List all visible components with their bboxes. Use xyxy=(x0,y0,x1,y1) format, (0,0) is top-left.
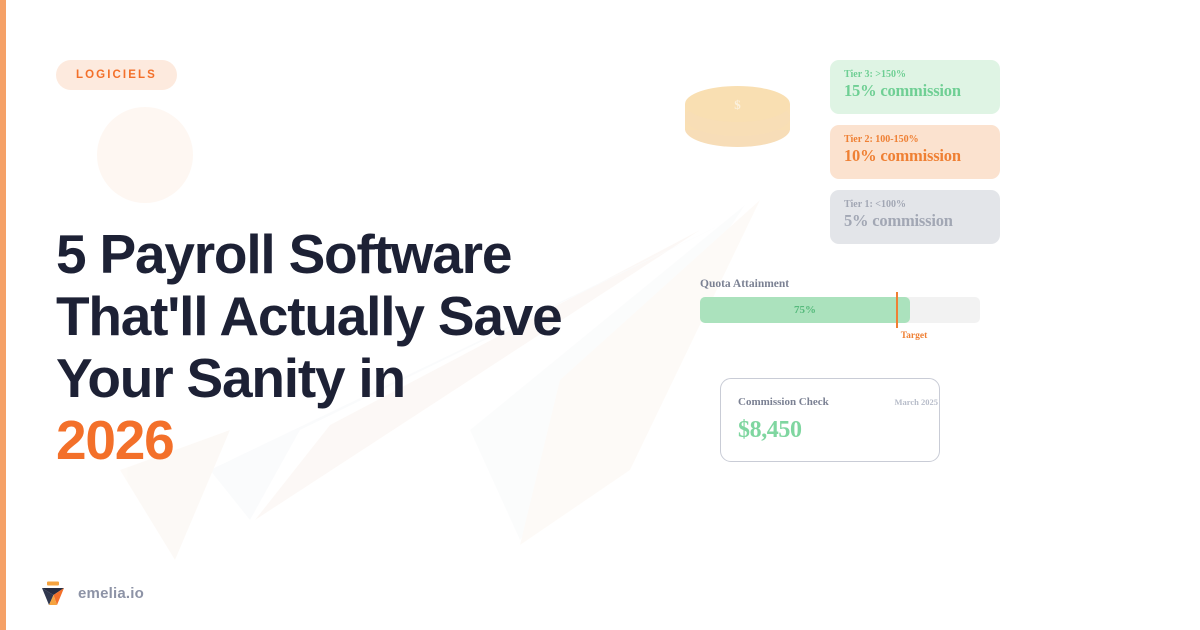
tier-3-rate: 15% commission xyxy=(844,81,986,101)
commission-check-header: Commission Check March 2025 xyxy=(738,396,922,408)
tier-1-rate: 5% commission xyxy=(844,211,986,231)
tier-card-2: Tier 2: 100-150% 10% commission xyxy=(830,125,1000,179)
commission-check-title: Commission Check xyxy=(738,396,829,408)
quota-target-label: Target xyxy=(901,331,928,341)
hero-right-visual: $ Tier 3: >150% 15% commission Tier 2: 1… xyxy=(676,0,1016,630)
quota-attainment-label: Quota Attainment xyxy=(700,278,1004,290)
commission-check-card: Commission Check March 2025 $8,450 xyxy=(720,378,940,462)
tier-2-range: Tier 2: 100-150% xyxy=(844,134,986,145)
quota-progress-value: 75% xyxy=(794,304,816,316)
page-title: 5 Payroll Software That'll Actually Save… xyxy=(56,223,656,471)
coin-stack-icon: $ xyxy=(685,85,790,147)
paper-plane-logo-icon xyxy=(40,580,67,607)
tier-card-3: Tier 3: >150% 15% commission xyxy=(830,60,1000,114)
category-badge: LOGICIELS xyxy=(56,60,177,90)
hero-left-column: LOGICIELS 5 Payroll Software That'll Act… xyxy=(56,0,676,630)
tier-2-rate: 10% commission xyxy=(844,146,986,166)
quota-progress-fill: 75% xyxy=(700,297,910,323)
dollar-symbol: $ xyxy=(685,97,790,113)
headline-line-2: That'll Actually xyxy=(56,285,424,347)
quota-attainment-block: Quota Attainment 75% Target xyxy=(700,278,1004,323)
headline-line-1: 5 Payroll Software xyxy=(56,223,511,285)
tier-1-range: Tier 1: <100% xyxy=(844,199,986,210)
quota-target-marker xyxy=(896,292,898,328)
tier-3-range: Tier 3: >150% xyxy=(844,69,986,80)
tier-card-1: Tier 1: <100% 5% commission xyxy=(830,190,1000,244)
commission-check-date: March 2025 xyxy=(894,397,938,407)
headline-year: 2026 xyxy=(56,409,656,471)
left-accent-bar xyxy=(0,0,6,630)
quota-progress-track: 75% Target xyxy=(700,297,980,323)
commission-check-amount: $8,450 xyxy=(738,417,922,444)
brand-name: emelia.io xyxy=(78,585,144,602)
category-badge-label: LOGICIELS xyxy=(76,69,157,81)
brand-footer: emelia.io xyxy=(40,580,144,607)
